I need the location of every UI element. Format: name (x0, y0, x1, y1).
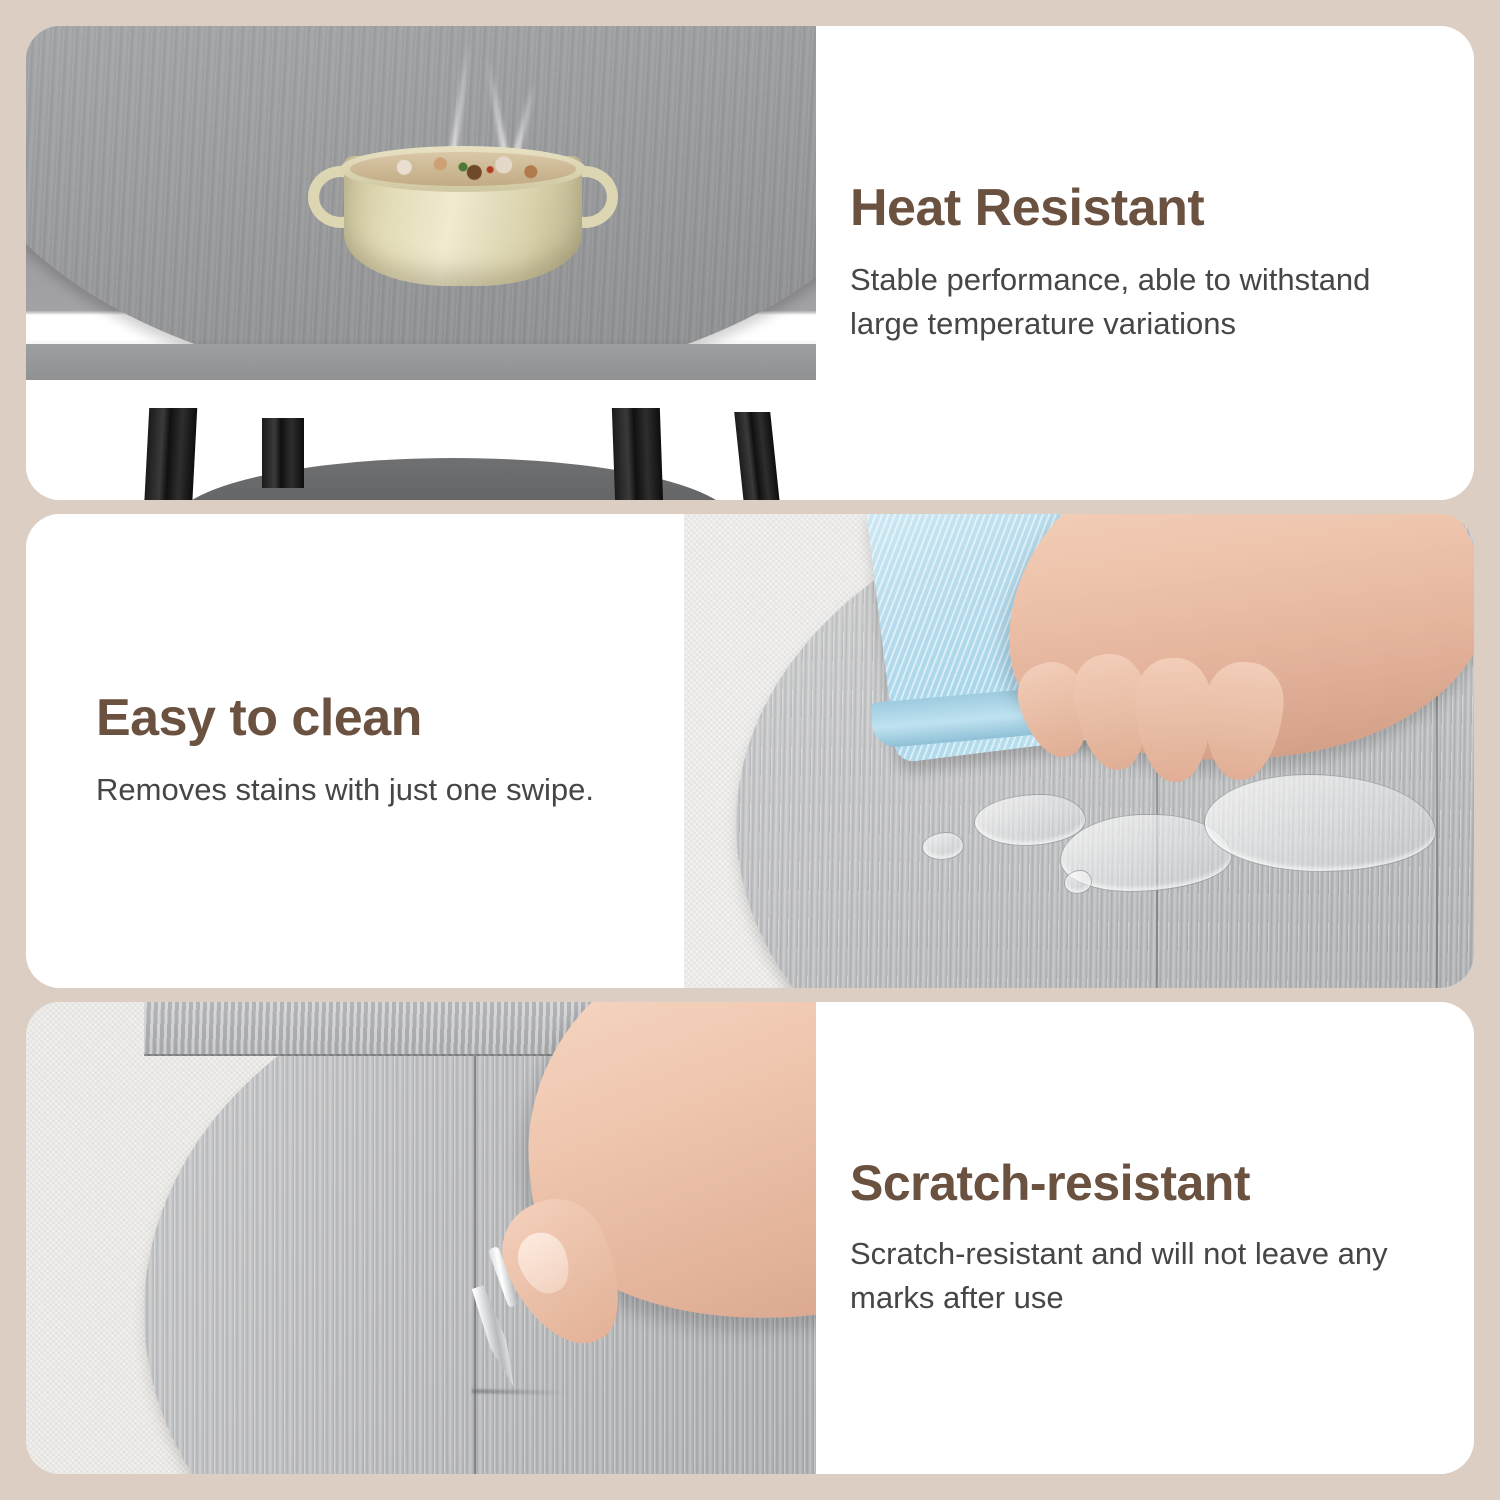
feature-panel-heat-resistant: Heat Resistant Stable performance, able … (26, 26, 1474, 500)
feature-infographic: Heat Resistant Stable performance, able … (0, 0, 1500, 1500)
cooking-pot (308, 132, 618, 292)
table-leg (143, 408, 197, 500)
feature-title-scratch-resistant: Scratch-resistant (850, 1156, 1440, 1210)
feature-image-scratch-resistant (26, 1002, 816, 1474)
feature-text-easy-to-clean: Easy to clean Removes stains with just o… (26, 514, 684, 988)
table-leg (262, 418, 304, 488)
feature-image-heat-resistant (26, 26, 816, 500)
feature-description-easy-to-clean: Removes stains with just one swipe. (96, 768, 644, 812)
feature-title-easy-to-clean: Easy to clean (96, 690, 644, 746)
feature-description-heat-resistant: Stable performance, able to withstand la… (850, 258, 1440, 346)
table-leg (612, 408, 664, 500)
feature-panel-scratch-resistant: Scratch-resistant Scratch-resistant and … (26, 1002, 1474, 1474)
feature-image-easy-to-clean (684, 514, 1474, 988)
feature-title-heat-resistant: Heat Resistant (850, 180, 1440, 236)
feature-description-scratch-resistant: Scratch-resistant and will not leave any… (850, 1232, 1440, 1320)
feature-text-scratch-resistant: Scratch-resistant Scratch-resistant and … (816, 1002, 1474, 1474)
pot-contents-stew (350, 152, 576, 186)
feature-panel-easy-to-clean: Easy to clean Removes stains with just o… (26, 514, 1474, 988)
table-plank-seam (474, 1056, 476, 1474)
feature-text-heat-resistant: Heat Resistant Stable performance, able … (816, 26, 1474, 500)
